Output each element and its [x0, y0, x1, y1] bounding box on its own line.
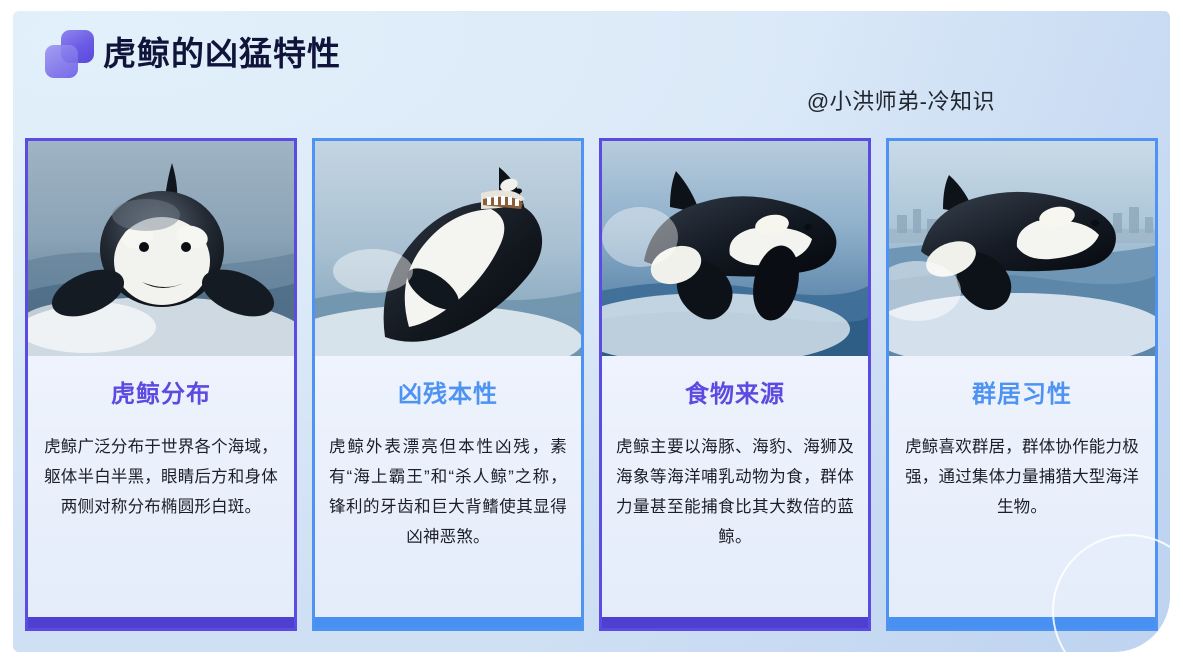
card-text: 虎鲸广泛分布于世界各个海域，躯体半白半黑，眼睛后方和身体两侧对称分布椭圆形白斑。	[42, 432, 280, 522]
info-card[interactable]: 食物来源 虎鲸主要以海豚、海豹、海狮及海象等海洋哺乳动物为食，群体力量甚至能捕食…	[599, 138, 871, 631]
card-footer-bar	[889, 617, 1155, 628]
card-heading: 食物来源	[616, 380, 854, 410]
card-heading: 凶残本性	[329, 380, 567, 410]
card-image-orca-teeth	[315, 141, 581, 356]
info-card[interactable]: 凶残本性 虎鲸外表漂亮但本性凶残，素有“海上霸王”和“杀人鲸”之称，锋利的牙齿和…	[312, 138, 584, 631]
card-body: 凶残本性 虎鲸外表漂亮但本性凶残，素有“海上霸王”和“杀人鲸”之称，锋利的牙齿和…	[315, 356, 581, 628]
card-footer-bar	[602, 617, 868, 628]
card-row: 虎鲸分布 虎鲸广泛分布于世界各个海域，躯体半白半黑，眼睛后方和身体两侧对称分布椭…	[25, 138, 1158, 631]
card-text: 虎鲸喜欢群居，群体协作能力极强，通过集体力量捕猎大型海洋生物。	[903, 432, 1141, 522]
page-title: 虎鲸的凶猛特性	[103, 30, 341, 78]
card-body: 食物来源 虎鲸主要以海豚、海豹、海狮及海象等海洋哺乳动物为食，群体力量甚至能捕食…	[602, 356, 868, 628]
card-text: 虎鲸外表漂亮但本性凶残，素有“海上霸王”和“杀人鲸”之称，锋利的牙齿和巨大背鳍使…	[329, 432, 567, 552]
card-image-orca-coastline	[889, 141, 1155, 356]
card-heading: 群居习性	[903, 380, 1141, 410]
logo-square-front	[45, 45, 78, 78]
author-handle: @小洪师弟-冷知识	[807, 84, 995, 116]
card-body: 虎鲸分布 虎鲸广泛分布于世界各个海域，躯体半白半黑，眼睛后方和身体两侧对称分布椭…	[28, 356, 294, 628]
card-image-orca-front	[28, 141, 294, 356]
card-footer-bar	[315, 617, 581, 628]
card-footer-bar	[28, 617, 294, 628]
slide-canvas: 虎鲸的凶猛特性 @小洪师弟-冷知识	[0, 0, 1183, 663]
card-heading: 虎鲸分布	[42, 380, 280, 410]
double-rounded-square-icon	[45, 29, 95, 79]
info-card[interactable]: 群居习性 虎鲸喜欢群居，群体协作能力极强，通过集体力量捕猎大型海洋生物。	[886, 138, 1158, 631]
card-text: 虎鲸主要以海豚、海豹、海狮及海象等海洋哺乳动物为食，群体力量甚至能捕食比其大数倍…	[616, 432, 854, 552]
card-body: 群居习性 虎鲸喜欢群居，群体协作能力极强，通过集体力量捕猎大型海洋生物。	[889, 356, 1155, 628]
info-card[interactable]: 虎鲸分布 虎鲸广泛分布于世界各个海域，躯体半白半黑，眼睛后方和身体两侧对称分布椭…	[25, 138, 297, 631]
slide-panel: 虎鲸的凶猛特性 @小洪师弟-冷知识	[13, 11, 1170, 652]
card-image-orca-leaping	[602, 141, 868, 356]
slide-header: 虎鲸的凶猛特性 @小洪师弟-冷知识	[13, 11, 1170, 131]
